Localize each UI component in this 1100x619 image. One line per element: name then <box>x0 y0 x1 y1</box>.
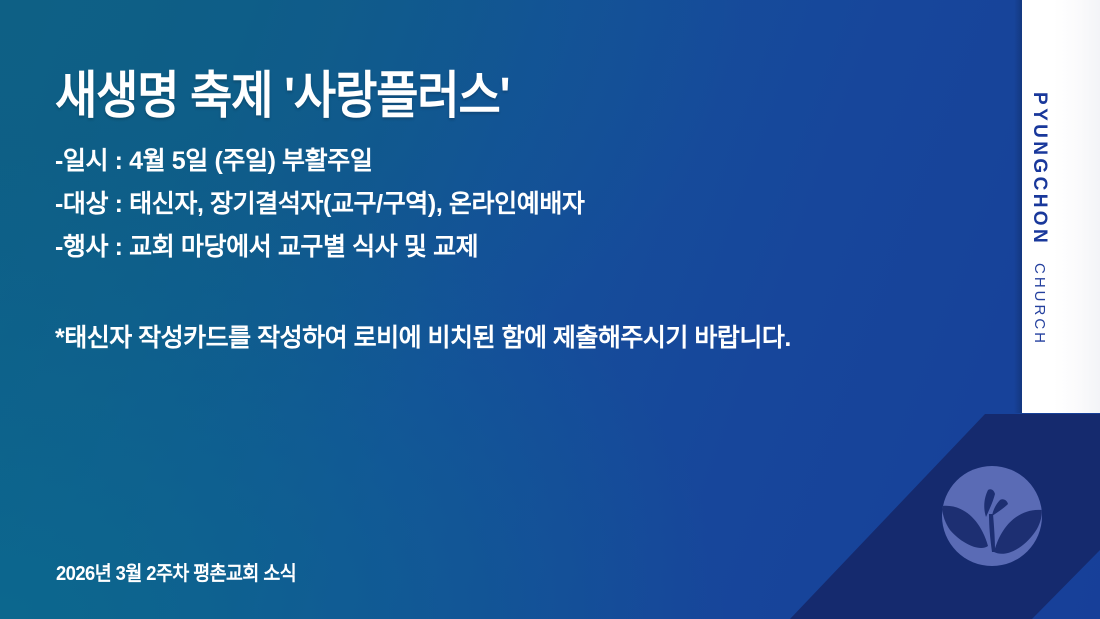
lily-flower-logo-icon <box>936 460 1048 572</box>
slide-footer: 2026년 3월 2주차 평촌교회 소식 <box>56 557 296 586</box>
body-line-date: -일시 : 4월 5일 (주일) 부활주일 <box>55 140 995 183</box>
brand-name-sub: CHURCH <box>1031 263 1048 346</box>
announcement-slide: PYUNGCHON CHURCH 새생명 축제 '사랑플러스' -일시 : 4월… <box>0 0 1100 619</box>
body-text-block: -일시 : 4월 5일 (주일) 부활주일 -대상 : 태신자, 장기결석자(교… <box>55 140 995 269</box>
brand-name-main: PYUNGCHON <box>1029 92 1050 246</box>
body-line-audience: -대상 : 태신자, 장기결석자(교구/구역), 온라인예배자 <box>55 183 995 226</box>
slide-title: 새생명 축제 '사랑플러스' <box>55 54 510 128</box>
vertical-brand-text: PYUNGCHON CHURCH <box>1030 92 1049 346</box>
vertical-brand-label: PYUNGCHON CHURCH <box>1022 0 1100 413</box>
body-line-event: -행사 : 교회 마당에서 교구별 식사 및 교제 <box>55 226 995 269</box>
slide-note: *태신자 작성카드를 작성하여 로비에 비치된 함에 제출해주시기 바랍니다. <box>55 318 791 354</box>
corner-polygon-decoration <box>760 400 1100 619</box>
